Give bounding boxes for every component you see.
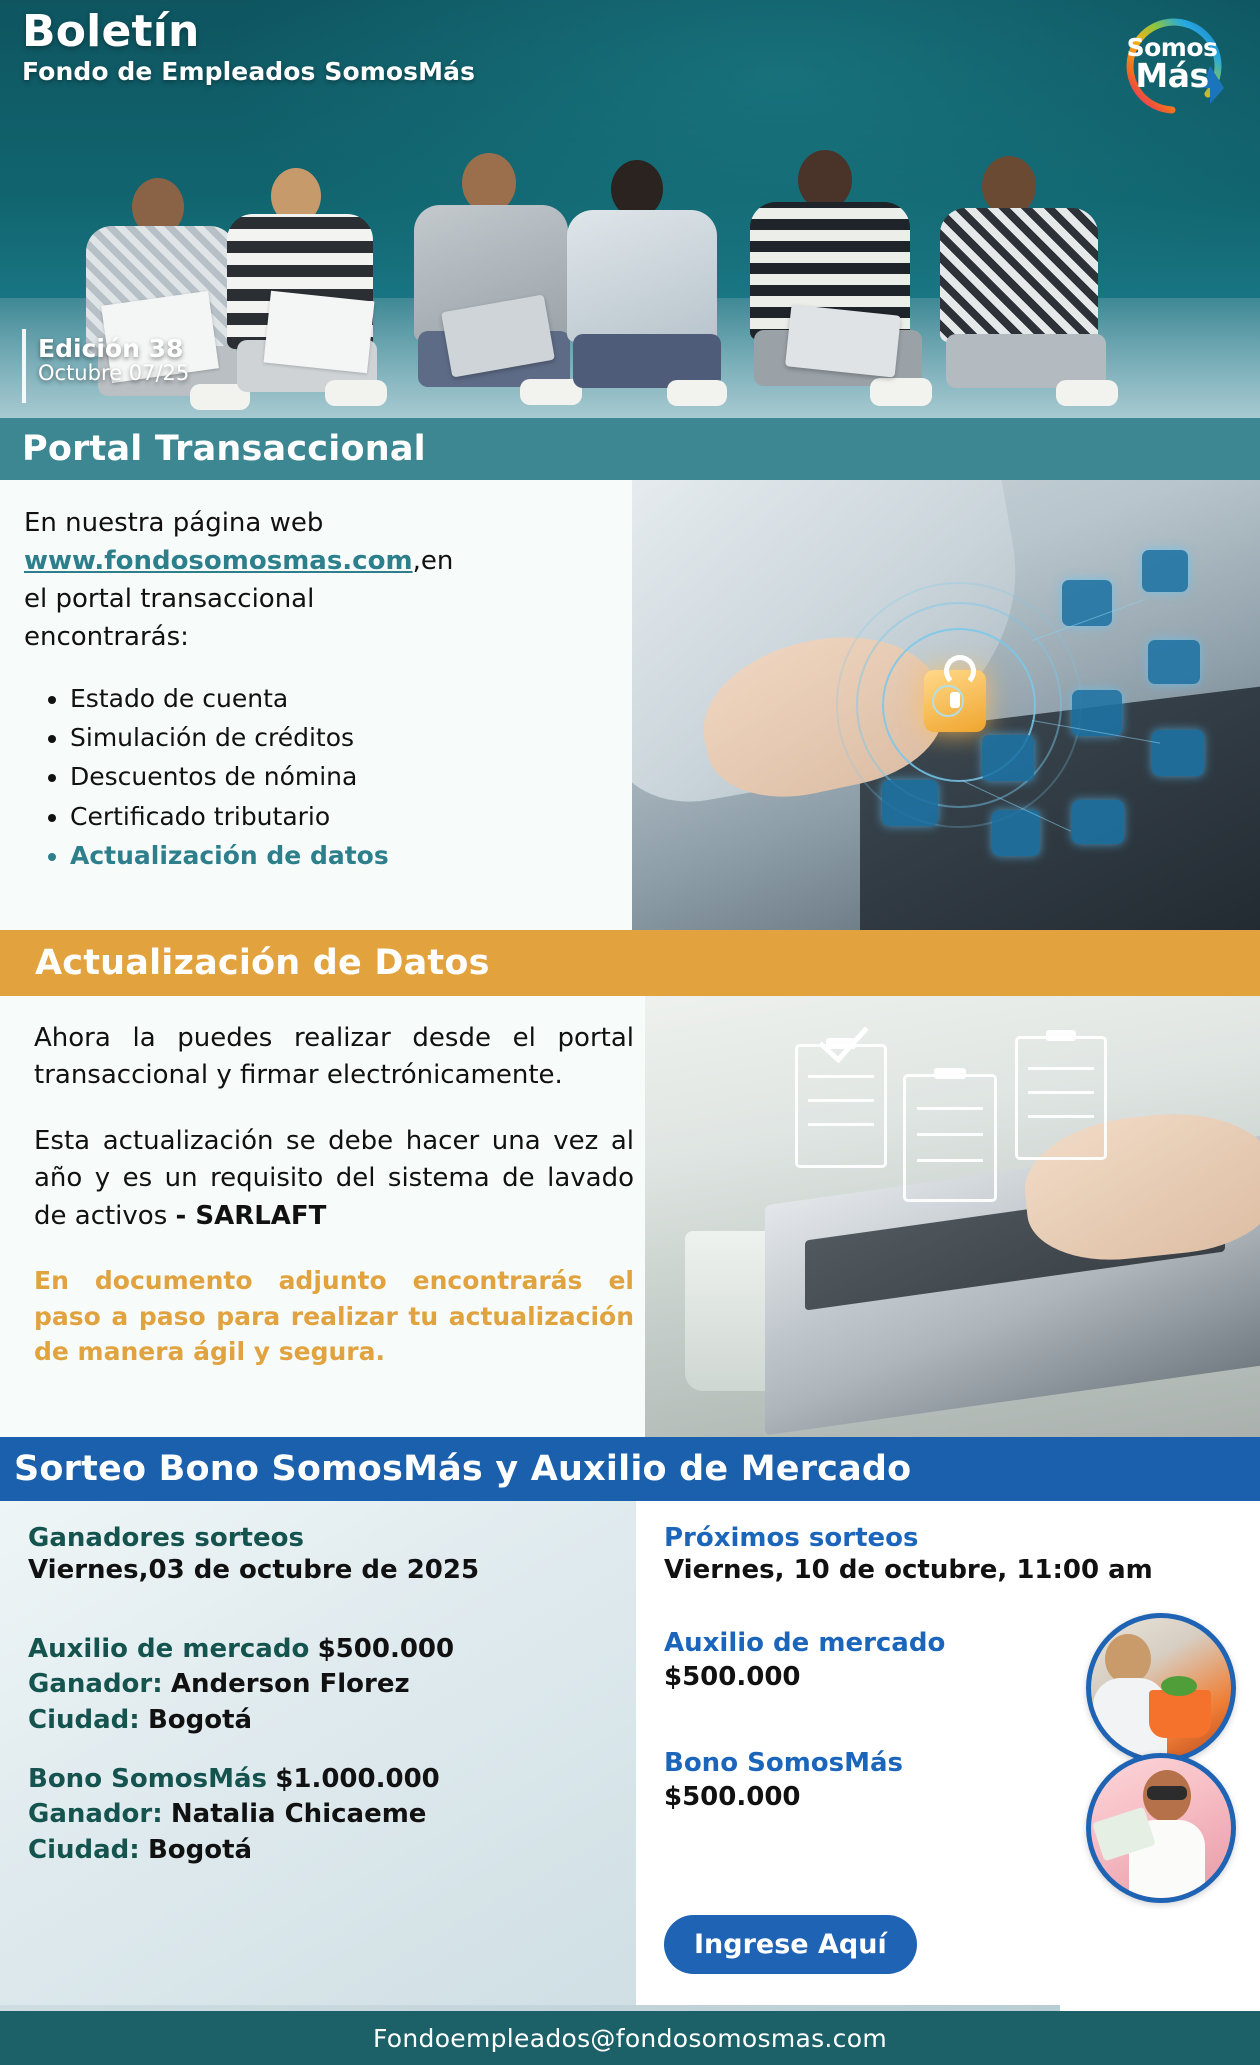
portal-lead-paragraph: En nuestra página web www.fondosomosmas.… [24, 505, 464, 657]
avatar-money-prize [1086, 1753, 1236, 1903]
update-text-block: Ahora la puedes realizar desde el portal… [34, 1020, 634, 1370]
winner-label: Ganador: [28, 1799, 163, 1829]
prize-amount: $500.000 [664, 1781, 903, 1815]
list-item: Certificado tributario [70, 797, 464, 836]
list-item-highlighted: Actualización de datos [70, 836, 464, 875]
list-item: Estado de cuenta [70, 679, 464, 718]
winner-city: Bogotá [148, 1835, 252, 1865]
winner-block-2: Bono SomosMás $1.000.000 Ganador: Natali… [28, 1763, 440, 1869]
clipboard-icon [795, 1044, 887, 1168]
hero-title-group: Boletín Fondo de Empleados SomosMás [22, 10, 475, 86]
list-item: Descuentos de nómina [70, 757, 464, 796]
winner-label: Ganador: [28, 1669, 163, 1699]
prize-name: Bono SomosMás [664, 1747, 903, 1781]
upcoming-header: Próximos sorteos Viernes, 10 de octubre,… [664, 1523, 1153, 1586]
winner-name: Natalia Chicaeme [171, 1799, 427, 1829]
sarlaft-label: - SARLAFT [176, 1201, 327, 1231]
banner-portal-transaccional: Portal Transaccional [0, 418, 1260, 480]
update-p2-text: Esta actualización se debe hacer una vez… [34, 1126, 634, 1231]
prize-amount: $1.000.000 [275, 1764, 439, 1794]
logo-line-2: Más [1135, 60, 1208, 92]
update-paragraph-2: Esta actualización se debe hacer una vez… [34, 1123, 634, 1235]
logo-text: Somos Más [1112, 8, 1232, 120]
prize-amount: $500.000 [664, 1661, 945, 1695]
lead-part-1: En nuestra página web [24, 508, 323, 538]
winner-city: Bogotá [148, 1705, 252, 1735]
update-paragraph-highlight: En documento adjunto encontrarás el paso… [34, 1263, 634, 1370]
person-4 [555, 160, 735, 418]
upcoming-column: Próximos sorteos Viernes, 10 de octubre,… [650, 1501, 1260, 2011]
clipboard-icon [903, 1074, 997, 1202]
person-2 [215, 168, 390, 418]
prize-name: Auxilio de mercado [28, 1634, 309, 1664]
upcoming-date: Viernes, 10 de octubre, 11:00 am [664, 1555, 1153, 1587]
ingrese-aqui-button[interactable]: Ingrese Aquí [664, 1915, 917, 1974]
city-label: Ciudad: [28, 1835, 140, 1865]
upcoming-prize-2: Bono SomosMás $500.000 [664, 1747, 903, 1815]
banner-actualizacion-datos: Actualización de Datos [0, 930, 1260, 996]
update-illustration-photo [645, 996, 1260, 1437]
portal-illustration-photo [632, 480, 1260, 930]
banner-actualizacion-label: Actualización de Datos [0, 943, 490, 983]
somosmas-logo: Somos Más [1112, 8, 1232, 120]
portal-text-block: En nuestra página web www.fondosomosmas.… [24, 505, 464, 875]
update-paragraph-1: Ahora la puedes realizar desde el portal… [34, 1020, 634, 1095]
city-label: Ciudad: [28, 1705, 140, 1735]
section-portal-transaccional: En nuestra página web www.fondosomosmas.… [0, 480, 1260, 930]
edition-number: Edición 38 [38, 335, 189, 362]
edition-date: Octubre 07/25 [38, 362, 189, 386]
list-item: Simulación de créditos [70, 718, 464, 757]
avatar-shopping-prize [1086, 1613, 1236, 1763]
clipboard-icon [1015, 1036, 1107, 1160]
footer-email[interactable]: Fondoempleados@fondosomosmas.com [373, 2024, 887, 2053]
upcoming-heading: Próximos sorteos [664, 1523, 1153, 1555]
prize-name: Auxilio de mercado [664, 1627, 945, 1661]
footer-bar: Fondoempleados@fondosomosmas.com [0, 2011, 1260, 2065]
person-6 [930, 156, 1125, 418]
newsletter-page: Boletín Fondo de Empleados SomosMás Edic… [0, 0, 1260, 2065]
winner-block-1: Auxilio de mercado $500.000 Ganador: And… [28, 1633, 454, 1739]
hero-section: Boletín Fondo de Empleados SomosMás Edic… [0, 0, 1260, 418]
edition-badge: Edición 38 Octubre 07/25 [22, 335, 189, 386]
winners-column: Ganadores sorteos Viernes,03 de octubre … [0, 1501, 636, 2011]
prize-name: Bono SomosMás [28, 1764, 267, 1794]
website-link[interactable]: www.fondosomosmas.com [24, 546, 413, 576]
banner-sorteo: Sorteo Bono SomosMás y Auxilio de Mercad… [0, 1437, 1260, 1501]
person-5 [740, 150, 935, 418]
banner-portal-label: Portal Transaccional [0, 429, 426, 469]
section-sorteo: Ganadores sorteos Viernes,03 de octubre … [0, 1501, 1260, 2011]
portal-feature-list: Estado de cuenta Simulación de créditos … [24, 679, 464, 875]
winner-name: Anderson Florez [171, 1669, 410, 1699]
winners-date: Viernes,03 de octubre de 2025 [28, 1555, 479, 1587]
winners-heading: Ganadores sorteos [28, 1523, 479, 1555]
prize-amount: $500.000 [318, 1634, 455, 1664]
winners-header: Ganadores sorteos Viernes,03 de octubre … [28, 1523, 479, 1586]
banner-sorteo-label: Sorteo Bono SomosMás y Auxilio de Mercad… [0, 1449, 911, 1489]
page-subtitle: Fondo de Empleados SomosMás [22, 57, 475, 86]
section-actualizacion-datos: Ahora la puedes realizar desde el portal… [0, 996, 1260, 1437]
upcoming-prize-1: Auxilio de mercado $500.000 [664, 1627, 945, 1695]
page-title: Boletín [22, 10, 475, 55]
